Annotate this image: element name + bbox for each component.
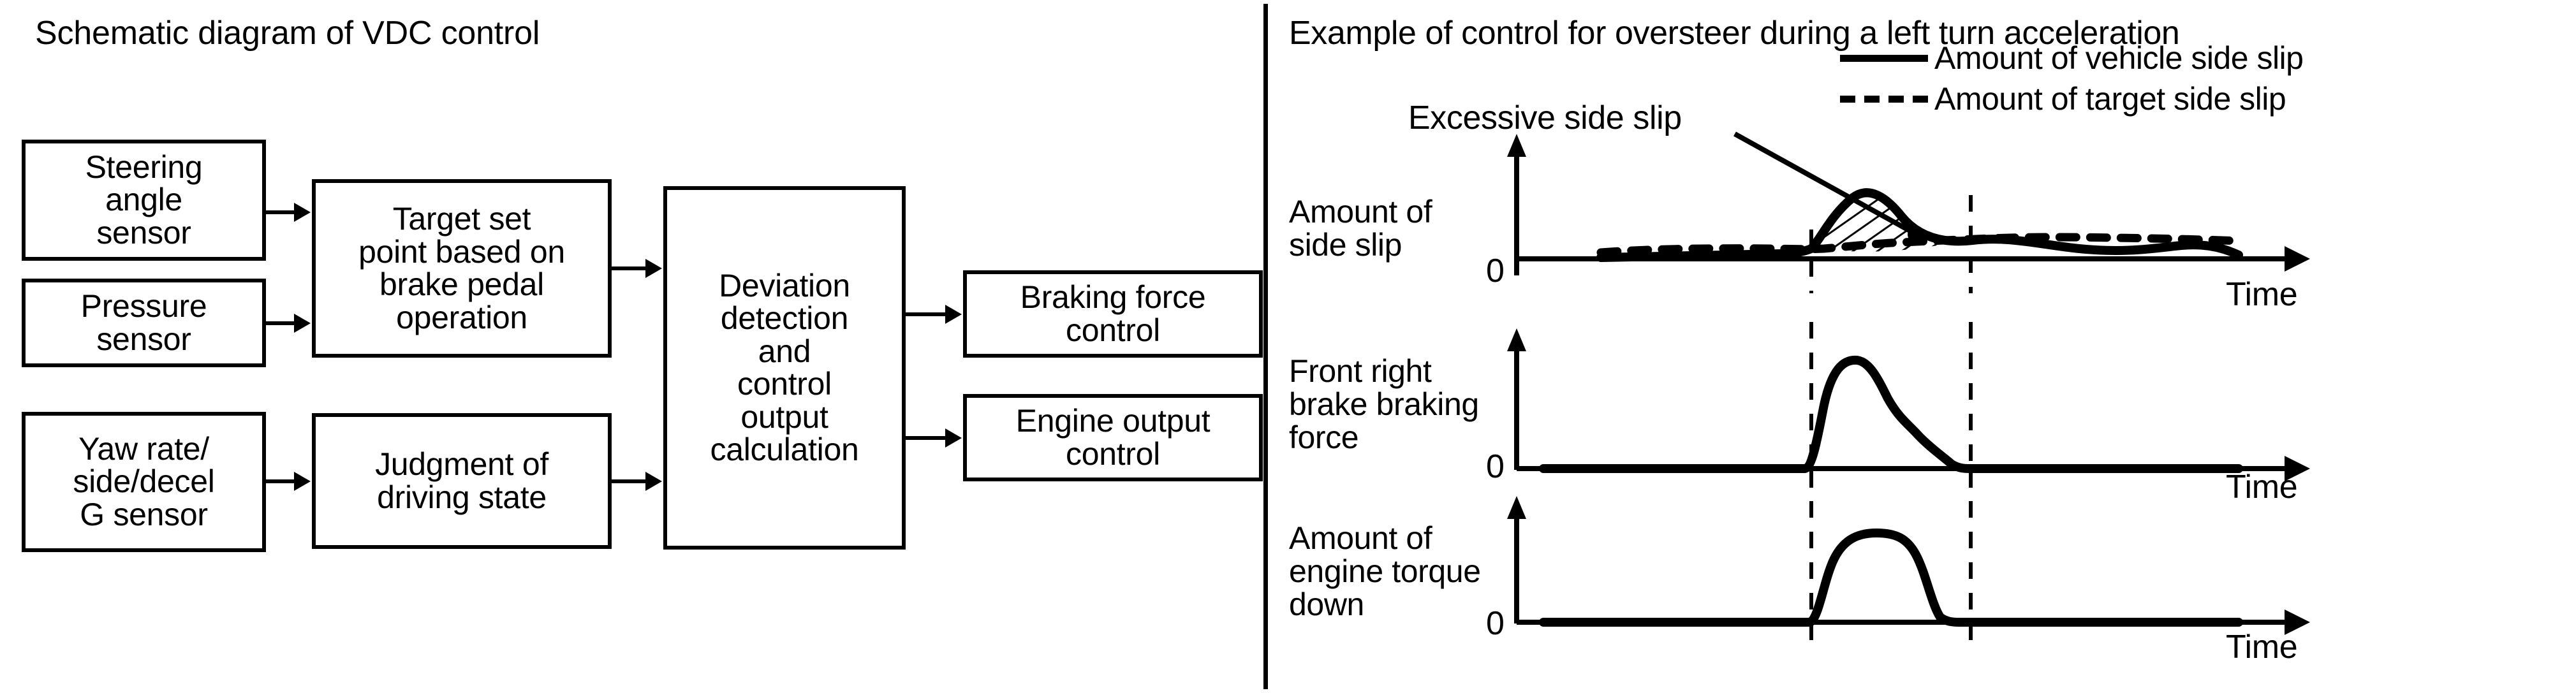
legend-item-vehicle-side-slip: Amount of vehicle side slip xyxy=(1840,40,2303,77)
chart2-y-axis xyxy=(1507,328,1526,470)
arrow-pressure-to-target xyxy=(266,321,295,325)
annotation-excessive-side-slip: Excessive side slip xyxy=(1408,99,1682,137)
legend-dashed-line-icon xyxy=(1840,96,1928,103)
chart2-ylabel-line: Front right xyxy=(1289,354,1531,388)
box-line: G sensor xyxy=(73,499,214,532)
box-steering-angle-sensor: Steering angle sensor xyxy=(22,140,266,261)
box-target-set-point: Target set point based on brake pedal op… xyxy=(312,179,612,358)
chart1-origin-label: 0 xyxy=(1486,252,1505,290)
box-line: Engine output xyxy=(1016,405,1211,438)
chart2-plot xyxy=(1505,328,2334,488)
box-line: Braking force xyxy=(1020,281,1206,314)
box-line: and xyxy=(710,335,859,368)
box-line: Target set xyxy=(358,203,565,236)
box-line: control xyxy=(1016,438,1211,471)
chart2-ylabel: Front right brake braking force xyxy=(1289,354,1531,454)
box-line: sensor xyxy=(81,323,207,356)
legend-solid-line-icon xyxy=(1840,55,1928,62)
box-judgment-driving-state: Judgment of driving state xyxy=(312,413,612,549)
chart3-y-axis xyxy=(1507,496,1526,624)
box-line: brake pedal xyxy=(358,268,565,302)
box-deviation-detection: Deviation detection and control output c… xyxy=(663,186,906,550)
box-line: Yaw rate/ xyxy=(73,433,214,466)
box-braking-force-control: Braking force control xyxy=(963,270,1263,358)
left-panel-title: Schematic diagram of VDC control xyxy=(35,14,540,52)
legend-label: Amount of target side slip xyxy=(1934,80,2286,117)
arrow-head-deviation-to-braking xyxy=(945,305,962,324)
box-line: control xyxy=(1020,314,1206,347)
box-yaw-rate-sensor: Yaw rate/ side/decel G sensor xyxy=(22,412,266,552)
arrow-yaw-to-judgment xyxy=(266,479,295,483)
chart2-ylabel-line: brake braking xyxy=(1289,388,1531,421)
box-line: Pressure xyxy=(81,290,207,323)
arrow-head-target-to-deviation xyxy=(645,259,662,278)
box-line: Judgment of xyxy=(375,448,548,481)
box-line: Deviation xyxy=(710,270,859,303)
chart1-ylabel: Amount of side slip xyxy=(1289,195,1499,261)
box-line: driving state xyxy=(375,481,548,514)
box-line: angle xyxy=(85,184,203,217)
box-line: detection xyxy=(710,302,859,335)
arrow-steering-to-target xyxy=(266,210,295,214)
chart3-plot xyxy=(1505,496,2334,643)
figure-root: Schematic diagram of VDC control Steerin… xyxy=(0,0,2576,693)
arrow-judgment-to-deviation xyxy=(612,479,647,483)
legend-label: Amount of vehicle side slip xyxy=(1934,40,2303,77)
box-line: side/decel xyxy=(73,465,214,499)
box-pressure-sensor: Pressure sensor xyxy=(22,279,266,367)
chart2-series-braking-force xyxy=(1543,360,2239,469)
arrow-deviation-to-braking xyxy=(906,312,946,316)
box-line: Steering xyxy=(85,151,203,184)
chart2-origin-label: 0 xyxy=(1486,448,1505,486)
chart1-ylabel-line: Amount of xyxy=(1289,195,1499,228)
arrow-deviation-to-engine xyxy=(906,436,946,440)
arrow-head-yaw-to-judgment xyxy=(294,472,311,491)
arrow-head-judgment-to-deviation xyxy=(645,472,662,491)
box-line: output xyxy=(710,401,859,434)
chart1-ylabel-line: side slip xyxy=(1289,228,1499,261)
box-line: point based on xyxy=(358,236,565,269)
box-line: sensor xyxy=(85,217,203,250)
box-line: operation xyxy=(358,302,565,335)
chart3-series-engine-torque-down xyxy=(1543,533,2239,622)
box-line: control xyxy=(710,368,859,401)
arrow-head-deviation-to-engine xyxy=(945,428,962,448)
legend-item-target-side-slip: Amount of target side slip xyxy=(1840,80,2286,117)
arrow-target-to-deviation xyxy=(612,266,647,270)
chart3-origin-label: 0 xyxy=(1486,604,1505,643)
arrow-head-pressure-to-target xyxy=(294,314,311,333)
arrow-head-steering-to-target xyxy=(294,203,311,222)
chart1-y-axis xyxy=(1507,134,1526,275)
annotation-leader-line xyxy=(1722,121,2079,268)
box-engine-output-control: Engine output control xyxy=(963,394,1263,481)
panel-divider xyxy=(1263,4,1268,689)
box-line: calculation xyxy=(710,434,859,467)
